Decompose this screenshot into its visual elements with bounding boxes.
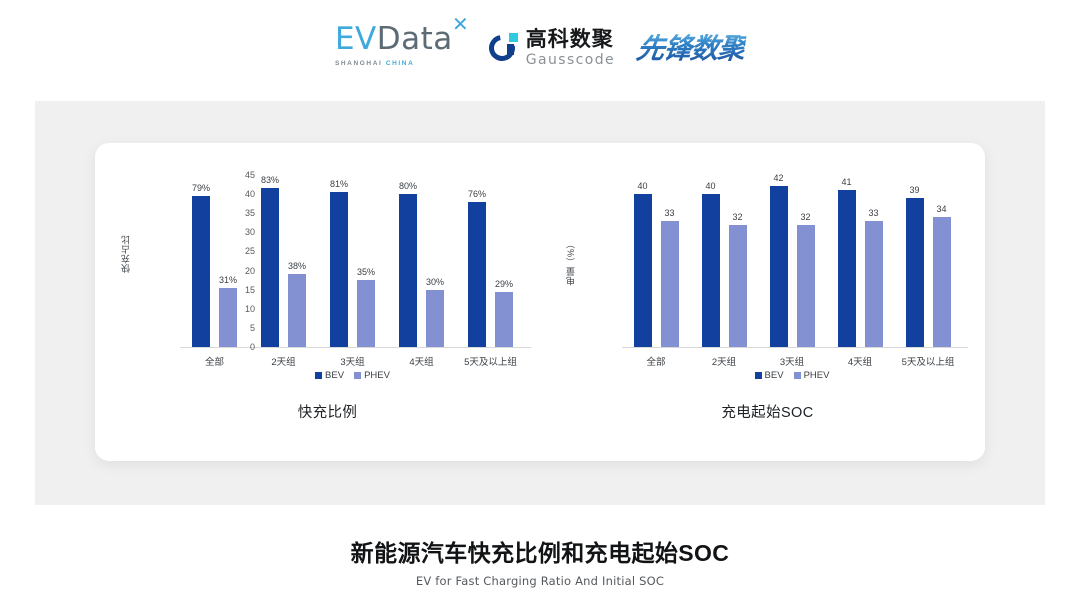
chart-right-y-ticks: 051015202530354045 <box>550 143 622 144</box>
logo-bar: EVData ✕ SHANGHAI CHINA 高科数聚 Gausscode 先… <box>0 24 1080 67</box>
category-label: 3天组 <box>340 354 364 368</box>
bar-value-label: 35% <box>357 267 375 277</box>
category-label: 5天及以上组 <box>464 354 517 368</box>
bar-value-label: 29% <box>495 279 513 289</box>
evdata-tagline: SHANGHAI CHINA <box>335 60 414 67</box>
legend-swatch-icon <box>315 372 322 379</box>
category-label: 全部 <box>646 354 665 368</box>
chart-left-legend: BEVPHEV <box>180 370 525 381</box>
legend-label: PHEV <box>804 370 830 381</box>
bar-bev <box>770 186 788 347</box>
bar-value-label: 38% <box>288 261 306 271</box>
legend-swatch-icon <box>755 372 762 379</box>
gausscode-texts: 高科数聚 Gausscode <box>526 29 615 67</box>
gausscode-mark-icon <box>489 33 519 63</box>
chart-right-y-tick: 45 <box>215 170 255 180</box>
bar-phev <box>426 290 444 347</box>
chart-right-y-tick: 40 <box>215 189 255 199</box>
chart-right-y-tick: 35 <box>215 208 255 218</box>
bar-value-label: 33 <box>868 208 878 218</box>
bar-bev <box>192 196 210 347</box>
bar-value-label: 42 <box>773 173 783 183</box>
chart-left-y-ticks: 0%10%20%30%40%50%60%70%80%90% <box>105 143 180 144</box>
bar-value-label: 30% <box>426 277 444 287</box>
chart-left-y-axis-label: 快充占比 <box>119 235 132 273</box>
xianfeng-logo: 先锋数聚 <box>634 27 748 67</box>
page-title: 新能源汽车快充比例和充电起始SOC <box>0 534 1080 568</box>
chart-right-y-tick: 5 <box>215 323 255 333</box>
gausscode-logo: 高科数聚 Gausscode <box>489 29 615 67</box>
chart-right-x-axis-line <box>622 347 968 348</box>
bar-value-label: 40 <box>705 181 715 191</box>
bar-bev <box>634 194 652 347</box>
chart-right-y-tick: 0 <box>215 342 255 352</box>
slide-page: EVData ✕ SHANGHAI CHINA 高科数聚 Gausscode 先… <box>0 0 1080 608</box>
gausscode-square-shape <box>509 33 518 42</box>
bar-phev <box>797 225 815 347</box>
bar-value-label: 76% <box>468 189 486 199</box>
bar-bev <box>906 198 924 347</box>
chart-right-y-tick: 25 <box>215 246 255 256</box>
legend-item-phev[interactable]: PHEV <box>794 370 830 381</box>
category-label: 3天组 <box>780 354 804 368</box>
gausscode-cn-name: 高科数聚 <box>526 29 615 50</box>
bar-bev <box>399 194 417 347</box>
bar-value-label: 81% <box>330 179 348 189</box>
chart-fast-charging-ratio: 快充占比 0%10%20%30%40%50%60%70%80%90% 79%31… <box>105 143 550 461</box>
legend-item-bev[interactable]: BEV <box>755 370 784 381</box>
bar-phev <box>865 221 883 347</box>
gausscode-en-name: Gausscode <box>526 53 615 67</box>
bar-phev <box>357 280 375 347</box>
evdata-tagline-country: CHINA <box>386 60 415 67</box>
category-label: 5天及以上组 <box>902 354 955 368</box>
gausscode-inner-shape <box>507 44 514 55</box>
bar-value-label: 83% <box>261 175 279 185</box>
category-label: 4天组 <box>409 354 433 368</box>
bar-value-label: 33 <box>664 208 674 218</box>
bar-bev <box>838 190 856 347</box>
chart-right-plot-area: 40334032423241333934 <box>622 175 962 347</box>
bar-phev <box>219 288 237 347</box>
bar-bev <box>702 194 720 347</box>
bar-value-label: 41 <box>841 177 851 187</box>
bar-value-label: 32 <box>732 212 742 222</box>
evdata-wordmark: EVData <box>335 24 453 55</box>
evdata-ev-text: EV <box>335 21 377 57</box>
chart-right-y-axis-label: 电量（%） <box>564 239 577 286</box>
chart-right-y-tick: 10 <box>215 304 255 314</box>
legend-swatch-icon <box>794 372 801 379</box>
category-label: 全部 <box>205 354 224 368</box>
bar-phev <box>729 225 747 347</box>
evdata-logo: EVData ✕ SHANGHAI CHINA <box>335 24 467 67</box>
chart-left-plot-area: 79%31%83%38%81%35%80%30%76%29% <box>180 175 525 347</box>
chart-right-y-tick: 20 <box>215 266 255 276</box>
bar-bev <box>330 192 348 347</box>
legend-item-phev[interactable]: PHEV <box>354 370 390 381</box>
bar-value-label: 31% <box>219 275 237 285</box>
chart-left-caption: 快充比例 <box>105 401 550 422</box>
evdata-data-text: Data <box>377 21 453 57</box>
evdata-tagline-city: SHANGHAI <box>335 60 382 67</box>
bar-phev <box>933 217 951 347</box>
charts-card: 快充占比 0%10%20%30%40%50%60%70%80%90% 79%31… <box>95 143 985 461</box>
bar-phev <box>661 221 679 347</box>
legend-label: BEV <box>765 370 784 381</box>
bar-bev <box>261 188 279 347</box>
legend-item-bev[interactable]: BEV <box>315 370 344 381</box>
legend-label: BEV <box>325 370 344 381</box>
bar-phev <box>288 274 306 347</box>
bar-value-label: 40 <box>637 181 647 191</box>
bar-value-label: 79% <box>192 183 210 193</box>
bar-value-label: 39 <box>909 185 919 195</box>
bar-value-label: 32 <box>800 212 810 222</box>
chart-right-legend: BEVPHEV <box>622 370 962 381</box>
chart-right-caption: 充电起始SOC <box>550 401 985 422</box>
slide-footer: 新能源汽车快充比例和充电起始SOC EV for Fast Charging R… <box>0 534 1080 588</box>
chart-right-y-tick: 30 <box>215 227 255 237</box>
chart-initial-soc: 电量（%） 051015202530354045 403340324232413… <box>550 143 985 461</box>
bar-bev <box>468 202 486 347</box>
category-label: 2天组 <box>712 354 736 368</box>
evdata-x-icon: ✕ <box>452 15 469 35</box>
legend-label: PHEV <box>364 370 390 381</box>
page-subtitle: EV for Fast Charging Ratio And Initial S… <box>0 574 1080 588</box>
bar-value-label: 80% <box>399 181 417 191</box>
chart-right-y-tick: 15 <box>215 285 255 295</box>
legend-swatch-icon <box>354 372 361 379</box>
category-label: 4天组 <box>848 354 872 368</box>
bar-value-label: 34 <box>936 204 946 214</box>
bar-phev <box>495 292 513 347</box>
category-label: 2天组 <box>271 354 295 368</box>
